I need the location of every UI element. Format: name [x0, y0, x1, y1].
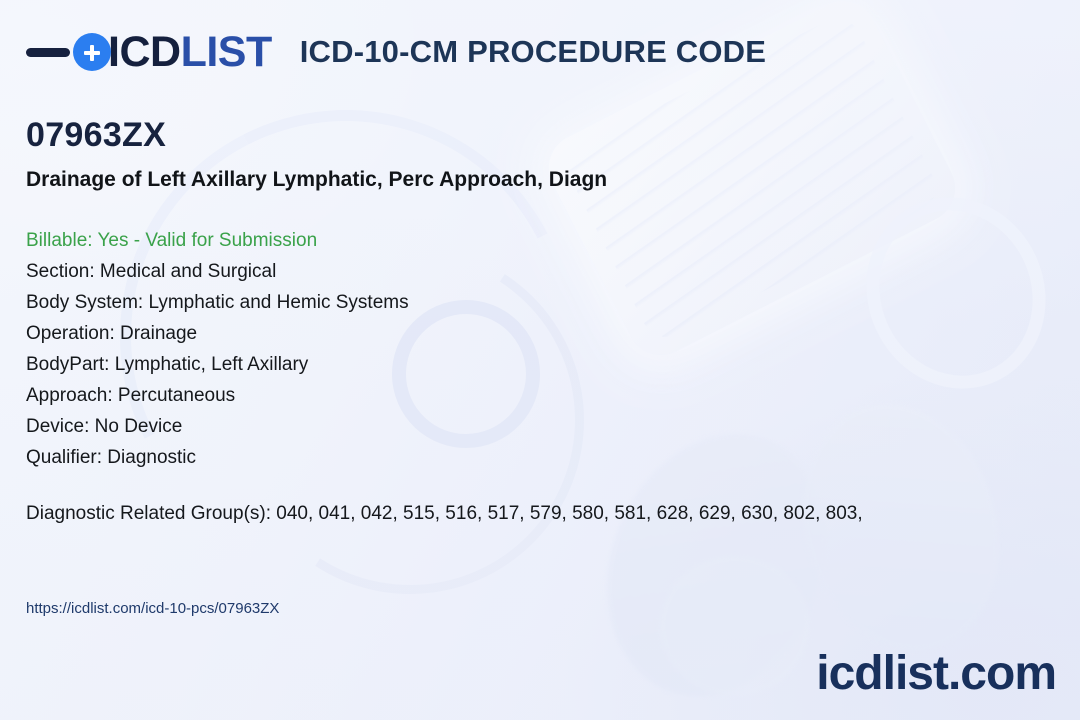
page-title: ICD-10-CM PROCEDURE CODE: [300, 34, 766, 70]
logo-text-secondary: LIST: [181, 28, 272, 76]
billable-status: Billable: Yes - Valid for Submission: [26, 225, 1066, 256]
icdlist-logo[interactable]: ICDLIST: [26, 24, 272, 80]
logo-text-primary: ICD: [108, 28, 181, 76]
footer-brand: icdlist.com: [816, 650, 1056, 698]
diagnostic-related-groups: Diagnostic Related Group(s): 040, 041, 0…: [26, 503, 1080, 525]
dash-icon: [26, 48, 70, 57]
logo-wordmark: ICDLIST: [108, 31, 272, 74]
source-url[interactable]: https://icdlist.com/icd-10-pcs/07963ZX: [26, 600, 279, 617]
detail-body-system: Body System: Lymphatic and Hemic Systems: [26, 287, 1066, 318]
detail-device: Device: No Device: [26, 411, 1066, 442]
card-content: ICDLIST ICD-10-CM PROCEDURE CODE 07963ZX…: [0, 0, 1080, 720]
detail-qualifier: Qualifier: Diagnostic: [26, 442, 1066, 473]
detail-body-part: BodyPart: Lymphatic, Left Axillary: [26, 349, 1066, 380]
code-details-list: Billable: Yes - Valid for Submission Sec…: [26, 225, 1066, 473]
procedure-code: 07963ZX: [26, 116, 166, 155]
detail-section: Section: Medical and Surgical: [26, 256, 1066, 287]
detail-approach: Approach: Percutaneous: [26, 380, 1066, 411]
icd-code-card: ICDLIST ICD-10-CM PROCEDURE CODE 07963ZX…: [0, 0, 1080, 720]
procedure-description: Drainage of Left Axillary Lymphatic, Per…: [26, 168, 607, 192]
plus-circle-icon: [73, 33, 111, 71]
detail-operation: Operation: Drainage: [26, 318, 1066, 349]
page-header: ICDLIST ICD-10-CM PROCEDURE CODE: [26, 24, 766, 80]
